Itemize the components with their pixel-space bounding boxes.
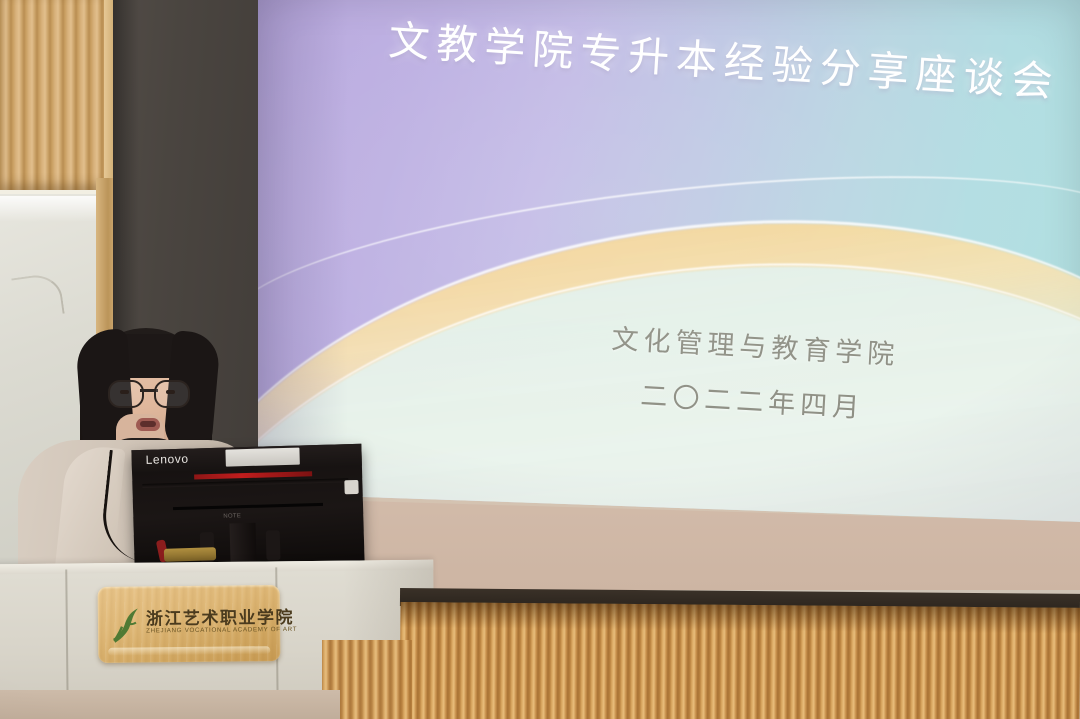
slide-subtitle-block: 文化管理与教育学院 二〇二二年四月 — [608, 317, 901, 427]
podium-plaque: 浙江艺术职业学院 ZHEJIANG VOCATIONAL ACADEMY OF … — [98, 585, 281, 663]
wood-slat-wainscot — [399, 602, 1080, 719]
monitor-corner-highlight — [344, 480, 358, 494]
presenter-eye-right — [166, 390, 175, 394]
eyeglasses-lens-right — [154, 380, 190, 408]
eyeglasses-lens-left — [108, 380, 144, 408]
presenter-mouth-inner — [140, 421, 156, 427]
wall-panel-gloss — [0, 196, 104, 222]
wood-slat-panel-upper-left — [0, 0, 112, 190]
monitor-asset-sticker — [225, 448, 299, 467]
dancer-bird-logo-icon — [110, 605, 140, 647]
monitor-lower-seam — [173, 503, 323, 510]
monitor-seam — [142, 478, 348, 488]
monitor-stand-neck — [229, 523, 256, 566]
gooseneck-microphone-base — [164, 547, 216, 562]
presenter-eye-left — [120, 390, 129, 394]
floor-strip — [0, 690, 340, 719]
presentation-photo-scene: 文教学院专升本经验分享座谈会 文化管理与教育学院 二〇二二年四月 — [0, 0, 1080, 719]
monitor-model-label: NOTE — [223, 513, 241, 519]
projection-screen: 文教学院专升本经验分享座谈会 文化管理与教育学院 二〇二二年四月 — [258, 0, 1080, 522]
monitor-red-accent-stripe — [194, 471, 312, 479]
plaque-highlight — [108, 646, 270, 656]
monitor-stand-foot-right — [266, 530, 281, 560]
slide-title: 文教学院专升本经验分享座谈会 — [387, 15, 1049, 108]
